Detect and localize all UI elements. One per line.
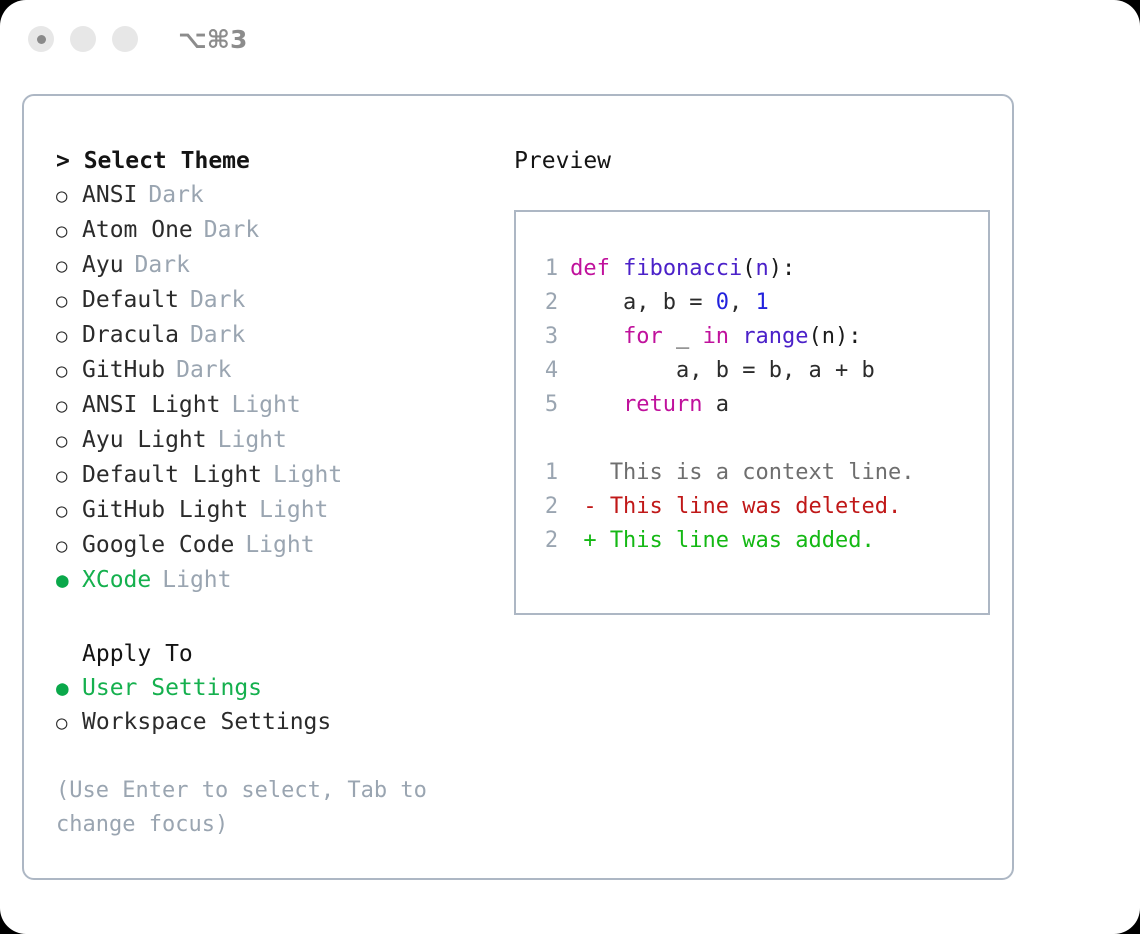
title-bar: ⌥⌘3	[0, 0, 1140, 78]
theme-list-item[interactable]: ○ANSI LightLight	[56, 388, 514, 423]
code-token: _	[663, 324, 703, 349]
code-token: ):	[769, 256, 796, 281]
keyboard-hint: (Use Enter to select, Tab to change focu…	[56, 774, 466, 842]
apply-to-list: ●User Settings○Workspace Settings	[56, 671, 514, 740]
theme-variant-badge: Dark	[190, 283, 245, 317]
radio-unselected-icon[interactable]: ○	[56, 319, 82, 353]
theme-variant-badge: Light	[259, 493, 328, 527]
diff-line: 1 This is a context line.	[536, 456, 988, 490]
radio-unselected-icon[interactable]: ○	[56, 494, 82, 528]
diff-text: + This line was added.	[570, 528, 875, 553]
code-token: 1	[756, 290, 769, 315]
radio-unselected-icon[interactable]: ○	[56, 249, 82, 283]
theme-name: GitHub Light	[82, 493, 248, 527]
radio-unselected-icon[interactable]: ○	[56, 389, 82, 423]
theme-picker-column: > Select Theme ○ANSIDark○Atom OneDark○Ay…	[40, 144, 514, 842]
code-token: for	[623, 324, 663, 349]
theme-variant-badge: Dark	[190, 318, 245, 352]
code-line: 3 for _ in range(n):	[536, 320, 988, 354]
code-token	[610, 256, 623, 281]
code-token	[570, 324, 623, 349]
line-number: 1	[536, 456, 558, 490]
theme-variant-badge: Dark	[135, 248, 190, 282]
theme-variant-badge: Light	[218, 423, 287, 457]
radio-selected-icon[interactable]: ●	[56, 563, 82, 597]
diff-line: 2 + This line was added.	[536, 524, 988, 558]
window-controls	[28, 26, 138, 52]
theme-name: Atom One	[82, 213, 193, 247]
radio-unselected-icon[interactable]: ○	[56, 459, 82, 493]
theme-name: GitHub	[82, 353, 165, 387]
theme-name: Ayu	[82, 248, 124, 282]
keyboard-shortcut-label: ⌥⌘3	[178, 25, 247, 54]
line-number: 3	[536, 320, 558, 354]
code-token: fibonacci	[623, 256, 742, 281]
theme-list-item[interactable]: ○DefaultDark	[56, 283, 514, 318]
apply-to-option[interactable]: ○Workspace Settings	[56, 705, 514, 740]
code-token: a	[703, 392, 730, 417]
code-diff-spacer	[536, 422, 988, 456]
page-title: > Select Theme	[56, 144, 514, 178]
line-number: 2	[536, 524, 558, 558]
radio-unselected-icon[interactable]: ○	[56, 354, 82, 388]
code-token: def	[570, 256, 610, 281]
theme-variant-badge: Dark	[204, 213, 259, 247]
apply-to-label: Workspace Settings	[82, 705, 331, 739]
code-token: 0	[716, 290, 729, 315]
radio-unselected-icon[interactable]: ○	[56, 284, 82, 318]
theme-variant-badge: Dark	[176, 353, 231, 387]
line-number: 2	[536, 286, 558, 320]
theme-list-item[interactable]: ●XCodeLight	[56, 563, 514, 597]
radio-unselected-icon[interactable]: ○	[56, 214, 82, 248]
radio-unselected-icon[interactable]: ○	[56, 706, 82, 740]
code-token: range	[742, 324, 808, 349]
theme-variant-badge: Dark	[148, 178, 203, 212]
app-window: ⌥⌘3 > Select Theme ○ANSIDark○Atom OneDar…	[0, 0, 1140, 934]
code-line: 4 a, b = b, a + b	[536, 354, 988, 388]
theme-list-item[interactable]: ○Default LightLight	[56, 458, 514, 493]
theme-name: Default Light	[82, 458, 262, 492]
window-dot-active-icon[interactable]	[28, 26, 54, 52]
code-token: (	[742, 256, 755, 281]
code-token: n	[756, 256, 769, 281]
code-line: 2 a, b = 0, 1	[536, 286, 988, 320]
theme-list-item[interactable]: ○GitHub LightLight	[56, 493, 514, 528]
theme-name: Ayu Light	[82, 423, 207, 457]
window-dot-inner	[37, 35, 46, 44]
theme-variant-badge: Light	[231, 388, 300, 422]
window-dot-second-icon[interactable]	[70, 26, 96, 52]
preview-codebox: 1def fibonacci(n):2 a, b = 0, 13 for _ i…	[514, 210, 990, 615]
theme-list-item[interactable]: ○Ayu LightLight	[56, 423, 514, 458]
theme-list-item[interactable]: ○ANSIDark	[56, 178, 514, 213]
main-panel: > Select Theme ○ANSIDark○Atom OneDark○Ay…	[22, 94, 1014, 880]
theme-variant-badge: Light	[245, 528, 314, 562]
window-dot-third-icon[interactable]	[112, 26, 138, 52]
theme-list-item[interactable]: ○Atom OneDark	[56, 213, 514, 248]
diff-text: - This line was deleted.	[570, 494, 901, 519]
code-token: a, b = b, a + b	[570, 358, 875, 383]
preview-column: Preview 1def fibonacci(n):2 a, b = 0, 13…	[514, 144, 1012, 842]
theme-list-item[interactable]: ○AyuDark	[56, 248, 514, 283]
apply-to-label: User Settings	[82, 671, 262, 705]
radio-unselected-icon[interactable]: ○	[56, 529, 82, 563]
theme-name: XCode	[82, 563, 151, 597]
code-sample: 1def fibonacci(n):2 a, b = 0, 13 for _ i…	[536, 252, 988, 422]
line-number: 5	[536, 388, 558, 422]
code-token: return	[623, 392, 702, 417]
theme-list-item[interactable]: ○Google CodeLight	[56, 528, 514, 563]
theme-list-item[interactable]: ○GitHubDark	[56, 353, 514, 388]
radio-selected-icon[interactable]: ●	[56, 671, 82, 705]
diff-line: 2 - This line was deleted.	[536, 490, 988, 524]
code-token	[729, 324, 742, 349]
code-token: (n):	[809, 324, 862, 349]
line-number: 1	[536, 252, 558, 286]
theme-list-item[interactable]: ○DraculaDark	[56, 318, 514, 353]
code-line: 5 return a	[536, 388, 988, 422]
theme-name: Google Code	[82, 528, 234, 562]
apply-to-heading: Apply To	[56, 637, 514, 671]
theme-variant-badge: Light	[273, 458, 342, 492]
theme-list: ○ANSIDark○Atom OneDark○AyuDark○DefaultDa…	[56, 178, 514, 597]
code-token	[570, 392, 623, 417]
code-token: ,	[729, 290, 756, 315]
radio-unselected-icon[interactable]: ○	[56, 179, 82, 213]
apply-to-option[interactable]: ●User Settings	[56, 671, 514, 705]
theme-name: ANSI	[82, 178, 137, 212]
diff-text: This is a context line.	[570, 460, 914, 485]
line-number: 4	[536, 354, 558, 388]
radio-unselected-icon[interactable]: ○	[56, 424, 82, 458]
diff-sample: 1 This is a context line.2 - This line w…	[536, 456, 988, 558]
theme-name: Default	[82, 283, 179, 317]
theme-name: ANSI Light	[82, 388, 220, 422]
theme-variant-badge: Light	[162, 563, 231, 597]
code-line: 1def fibonacci(n):	[536, 252, 988, 286]
code-token: in	[703, 324, 730, 349]
preview-heading: Preview	[514, 144, 1012, 178]
theme-name: Dracula	[82, 318, 179, 352]
code-token: a, b =	[570, 290, 716, 315]
line-number: 2	[536, 490, 558, 524]
